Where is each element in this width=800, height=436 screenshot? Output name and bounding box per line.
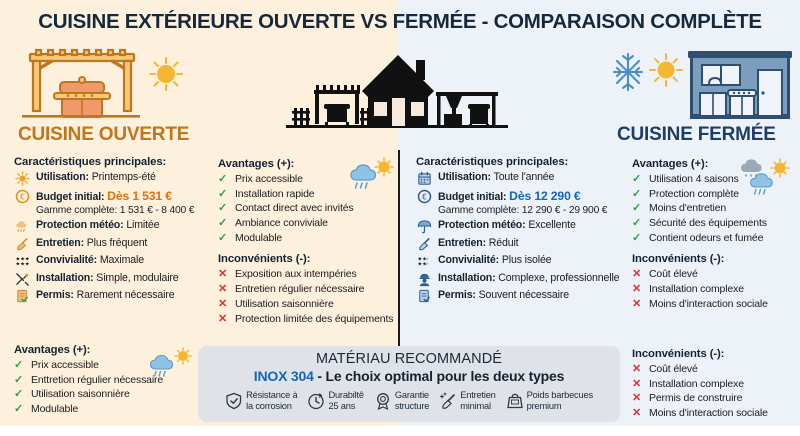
check-icon: ✓ — [14, 374, 26, 387]
cross-icon: ✕ — [632, 363, 644, 376]
feature-value-highlight: Dès 12 290 € — [509, 189, 580, 203]
cross-icon: ✕ — [632, 268, 644, 281]
broom-icon — [416, 237, 433, 252]
feature-label: Budget initial: — [36, 191, 104, 203]
feature-value: Maximale — [100, 254, 144, 266]
material-name: INOX 304 — [254, 368, 314, 384]
banner-item-line1: Poids barbecues — [527, 390, 593, 400]
stars-icon: ★★★ ★★★ — [416, 254, 433, 269]
document-check-icon — [14, 289, 31, 304]
feature-value: Toute l'année — [494, 171, 555, 183]
list-item: ✕Entretien régulier nécessaire — [218, 283, 398, 296]
list-item: ✕Coût élevé — [632, 363, 798, 376]
cross-icon: ✕ — [218, 268, 230, 281]
closed-cons-block-2: Inconvénients (-): ✕Coût élevé ✕Installa… — [632, 348, 798, 422]
feature-row: ★★★ ★★★ Convivialité: Plus isolée — [416, 254, 628, 269]
feature-row: Entretien: Plus fréquent — [14, 237, 210, 252]
house-with-outdoor-kitchens-icon — [286, 46, 508, 128]
list-item: ✓Contient odeurs et fumée — [632, 232, 798, 245]
closed-kitchen-building-icon — [612, 48, 792, 120]
feature-row: Utilisation: Toute l'année — [416, 171, 628, 186]
weight-icon — [506, 392, 524, 410]
feature-label: Installation: — [36, 272, 94, 284]
feature-row: Protection météo: Limitée — [14, 219, 210, 234]
rain-cloud-icon — [14, 219, 31, 234]
feature-label: Entretien: — [438, 237, 486, 249]
list-item: ✓Utilisation saisonnière — [14, 388, 210, 401]
banner-item-line2: minimal — [460, 401, 491, 411]
euro-coin-icon: € — [416, 189, 433, 204]
list-item: ✓Contact direct avec invités — [218, 202, 398, 215]
background-bottom-strip — [0, 426, 800, 436]
open-features-block: Caractéristiques principales: Utilisatio… — [14, 156, 210, 307]
check-icon: ✓ — [218, 217, 230, 230]
open-cons-title: Inconvénients (-): — [218, 253, 398, 265]
cross-icon: ✕ — [632, 298, 644, 311]
sun-icon — [14, 171, 31, 186]
feature-value: Réduit — [489, 237, 519, 249]
list-item: ✓Sécurité des équipements — [632, 217, 798, 230]
title-bar: CUISINE EXTÉRIEURE OUVERTE VS FERMÉE - C… — [0, 4, 800, 40]
banner-item: Résistance à la corrosion — [225, 390, 297, 411]
list-item: ✕Coût élevé — [632, 268, 798, 281]
feature-value: Plus isolée — [502, 254, 552, 266]
broom-icon — [14, 237, 31, 252]
closed-cons-title-2: Inconvénients (-): — [632, 348, 798, 360]
cross-icon: ✕ — [632, 407, 644, 420]
closed-features-title: Caractéristiques principales: — [416, 156, 628, 168]
feature-label: Protection météo: — [438, 219, 526, 231]
feature-row: Permis: Souvent nécessaire — [416, 289, 628, 304]
check-icon: ✓ — [218, 188, 230, 201]
list-item: ✕Protection limitée des équipements — [218, 313, 398, 326]
document-check-icon — [416, 289, 433, 304]
svg-text:€: € — [422, 192, 427, 201]
check-icon: ✓ — [632, 188, 644, 201]
banner-item-line2: premium — [527, 401, 562, 411]
umbrella-icon — [416, 219, 433, 234]
list-item: ✕Exposition aux intempéries — [218, 268, 398, 281]
banner-subheading: INOX 304 - Le choix optimal pour les deu… — [254, 368, 564, 384]
list-item: ✓Modulable — [218, 232, 398, 245]
feature-label: Permis: — [36, 289, 74, 301]
banner-item-line2: la corrosion — [246, 401, 292, 411]
banner-item: Entretien minimal — [439, 390, 495, 411]
feature-row: Protection météo: Excellente — [416, 219, 628, 234]
feature-row: Installation: Simple, modulaire — [14, 272, 210, 287]
feature-value: Excellente — [528, 219, 575, 231]
cross-icon: ✕ — [218, 283, 230, 296]
list-item: ✕Installation complexe — [632, 378, 798, 391]
snowflake-icon — [614, 54, 642, 90]
feature-label: Entretien: — [36, 237, 84, 249]
award-icon — [374, 392, 392, 410]
sun-icon — [650, 54, 682, 86]
feature-label: Convivialité: — [438, 254, 499, 266]
feature-label: Utilisation: — [36, 171, 89, 183]
banner-feature-list: Résistance à la corrosion Durabiltê 25 a… — [198, 390, 620, 411]
open-features-title: Caractéristiques principales: — [14, 156, 210, 168]
svg-text:★: ★ — [425, 261, 430, 267]
feature-row: Installation: Complexe, professionnelle — [416, 272, 628, 287]
svg-text:€: € — [20, 192, 25, 201]
banner-item-line1: Entretien — [460, 390, 495, 400]
svg-text:★★★: ★★★ — [16, 261, 30, 267]
feature-value: Limitée — [126, 219, 159, 231]
list-item: ✕Utilisation saisonnière — [218, 298, 398, 311]
check-icon: ✓ — [632, 173, 644, 186]
feature-value: Plus fréquent — [87, 237, 147, 249]
list-item: ✕Moins d'interaction sociale — [632, 298, 798, 311]
feature-label: Installation: — [438, 272, 496, 284]
check-icon: ✓ — [14, 403, 26, 416]
feature-label: Permis: — [438, 289, 476, 301]
pergola-bbq-icon — [14, 48, 194, 120]
list-item: ✕Permis de construire — [632, 392, 798, 405]
list-item: ✕Moins d'interaction sociale — [632, 407, 798, 420]
cloud-rain-sun-icon — [148, 348, 194, 380]
feature-value: Rarement nécessaire — [77, 289, 175, 301]
cross-icon: ✕ — [218, 298, 230, 311]
feature-row: Entretien: Réduit — [416, 237, 628, 252]
closed-kitchen-heading: CUISINE FERMÉE — [617, 124, 776, 146]
sun-icon — [150, 58, 182, 90]
banner-item-line1: Résistance à — [246, 390, 297, 400]
infographic-canvas: CUISINE EXTÉRIEURE OUVERTE VS FERMÉE - C… — [0, 0, 800, 436]
closed-budget-range: Gamme complète: 12 290 € - 29 900 € — [438, 205, 628, 216]
feature-value: Souvent nécessaire — [479, 289, 569, 301]
check-icon: ✓ — [14, 388, 26, 401]
clock-icon — [307, 392, 325, 410]
open-kitchen-heading: CUISINE OUVERTE — [18, 124, 189, 146]
recommended-material-banner: MATÉRIAU RECOMMANDÉ INOX 304 - Le choix … — [198, 346, 620, 422]
vertical-divider — [398, 150, 400, 346]
check-icon: ✓ — [218, 173, 230, 186]
feature-value: Printemps-été — [92, 171, 156, 183]
list-item: ✓Ambiance conviviale — [218, 217, 398, 230]
banner-item: Durabiltê 25 ans — [307, 390, 363, 411]
check-icon: ✓ — [632, 217, 644, 230]
feature-row: Utilisation: Printemps-été — [14, 171, 210, 186]
feature-row: € Budget initial: Dès 1 531 € — [14, 189, 210, 204]
closed-cons-title: Inconvénients (-): — [632, 253, 798, 265]
banner-item-line1: Durabiltê — [328, 390, 363, 400]
cross-icon: ✕ — [218, 313, 230, 326]
brush-sparkle-icon — [439, 392, 457, 410]
calendar-icon — [416, 171, 433, 186]
material-tagline: - Le choix optimal pour les deux types — [317, 368, 564, 384]
banner-item: Garantie structure — [374, 390, 429, 411]
check-icon: ✓ — [14, 359, 26, 372]
feature-label: Budget initial: — [438, 191, 506, 203]
feature-row: € Budget initial: Dès 12 290 € — [416, 189, 628, 204]
check-icon: ✓ — [632, 202, 644, 215]
feature-value: Simple, modulaire — [96, 272, 178, 284]
cross-icon: ✕ — [632, 392, 644, 405]
shield-check-icon — [225, 392, 243, 410]
cross-icon: ✕ — [632, 378, 644, 391]
page-title: CUISINE EXTÉRIEURE OUVERTE VS FERMÉE - C… — [38, 10, 761, 34]
banner-item: Poids barbecues premium — [506, 390, 593, 411]
feature-value-highlight: Dès 1 531 € — [107, 189, 172, 203]
feature-label: Convivialité: — [36, 254, 97, 266]
cross-icon: ✕ — [632, 283, 644, 296]
feature-label: Utilisation: — [438, 171, 491, 183]
closed-features-block: Caractéristiques principales: Utilisatio… — [416, 156, 628, 307]
list-item: ✕Installation complexe — [632, 283, 798, 296]
stars-icon: ★★★ ★★★ — [14, 254, 31, 269]
banner-item-line1: Garantie — [395, 390, 429, 400]
banner-item-line2: 25 ans — [328, 401, 355, 411]
feature-label: Protection météo: — [36, 219, 124, 231]
open-budget-range: Gamme complète: 1 531 € - 8 400 € — [36, 205, 210, 216]
tools-icon — [14, 272, 31, 287]
banner-heading: MATÉRIAU RECOMMANDÉ — [316, 351, 502, 367]
list-item: ✓Modulable — [14, 403, 210, 416]
check-icon: ✓ — [632, 232, 644, 245]
list-item: ✓Moins d'entretien — [632, 202, 798, 215]
check-icon: ✓ — [218, 232, 230, 245]
snow-cloud-sun-rain-icon — [740, 158, 794, 196]
check-icon: ✓ — [218, 202, 230, 215]
feature-value: Complexe, professionnelle — [498, 272, 619, 284]
feature-row: Permis: Rarement nécessaire — [14, 289, 210, 304]
banner-item-line2: structure — [395, 401, 429, 411]
euro-coin-icon: € — [14, 189, 31, 204]
feature-row: ★★★ ★★★ Convivialité: Maximale — [14, 254, 210, 269]
worker-icon — [416, 272, 433, 287]
cloud-rain-sun-icon — [348, 158, 396, 192]
